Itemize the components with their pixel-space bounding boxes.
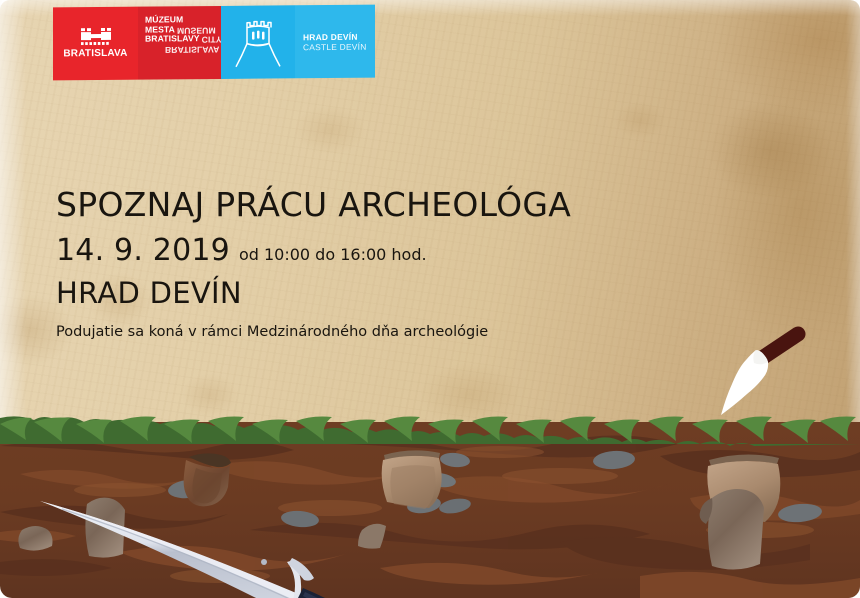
- logo-block-hrad-devin[interactable]: HRAD DEVÍN CASTLE DEVÍN: [295, 5, 375, 79]
- poster-copy: SPOZNAJ PRÁCU ARCHEOLÓGA 14. 9. 2019 od …: [56, 186, 696, 342]
- logo-block-bratislava[interactable]: BRATISLAVA: [53, 7, 138, 81]
- museum-line-3: BRATISLAVY: [145, 34, 200, 44]
- page-title: SPOZNAJ PRÁCU ARCHEOLÓGA: [56, 186, 696, 224]
- ground-clip-group: [0, 416, 860, 598]
- event-location: HRAD DEVÍN: [56, 276, 696, 310]
- museum-mirror-line-3: BRATISLAVA: [165, 44, 219, 54]
- date-time-row: 14. 9. 2019 od 10:00 do 16:00 hod.: [56, 234, 696, 268]
- logo-label-hrad-devin: HRAD DEVÍN: [303, 31, 375, 42]
- event-poster: BRATISLAVA MÚZEUM MESTA MUSEUM BRATISLAV…: [0, 0, 860, 598]
- event-date: 14. 9. 2019: [56, 234, 230, 268]
- event-subline: Podujatie sa koná v rámci Medzinárodného…: [56, 323, 696, 342]
- museum-mirror-line-1: MUSEUM: [177, 25, 216, 35]
- logo-block-tower[interactable]: [221, 5, 295, 79]
- bratislava-castle-mark-icon: [81, 28, 111, 45]
- logo-bar[interactable]: BRATISLAVA MÚZEUM MESTA MUSEUM BRATISLAV…: [53, 5, 375, 81]
- pottery-jar-rim: [382, 450, 442, 509]
- logo-label-bratislava: BRATISLAVA: [63, 48, 127, 60]
- archaeology-trowel-icon: [700, 316, 810, 426]
- event-time: od 10:00 do 16:00 hod.: [239, 245, 427, 265]
- logo-block-museum[interactable]: MÚZEUM MESTA MUSEUM BRATISLAVY CITY BRAT…: [138, 6, 221, 80]
- devin-tower-icon: [234, 10, 282, 73]
- stone-shard-c: [18, 526, 52, 551]
- logo-label-castle-devin: CASTLE DEVÍN: [303, 41, 375, 52]
- excavation-ground: [0, 412, 860, 598]
- museum-mirror-line-2: CITY: [202, 34, 221, 44]
